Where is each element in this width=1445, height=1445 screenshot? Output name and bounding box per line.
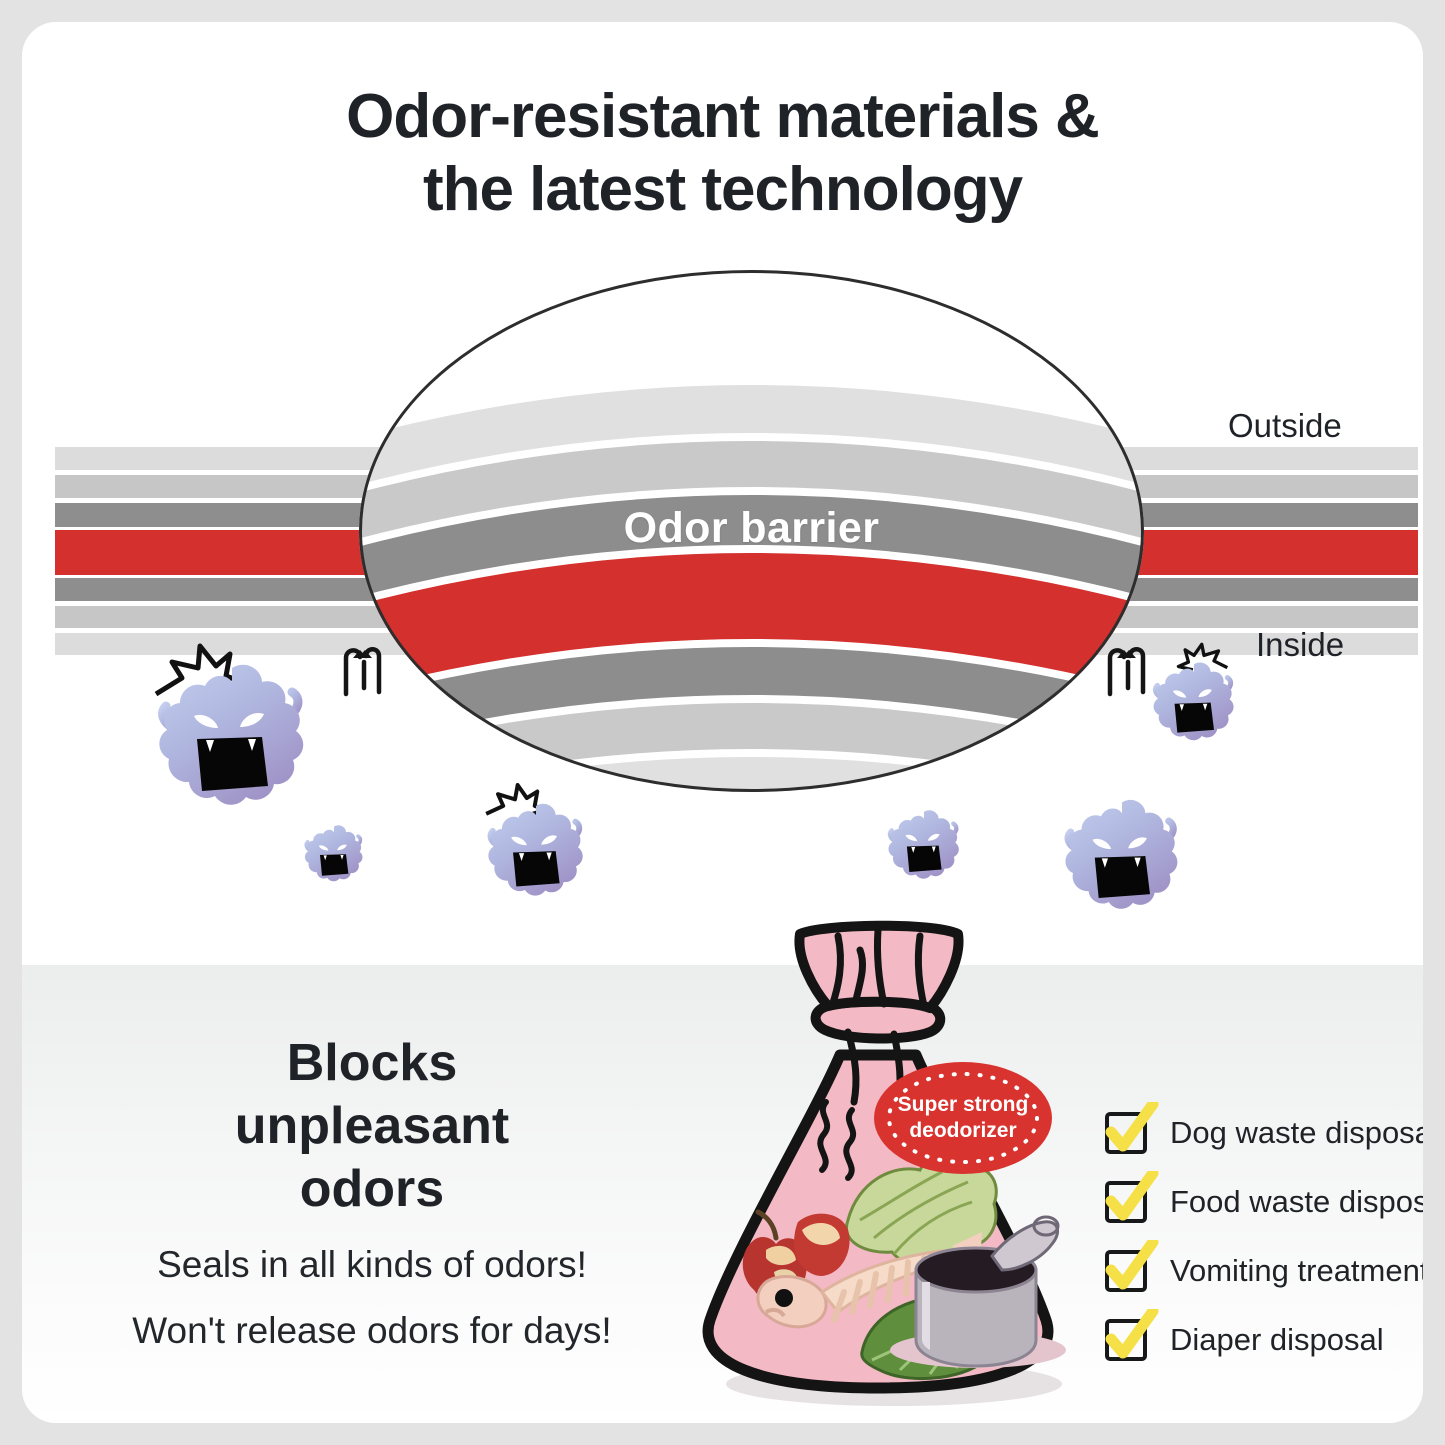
infographic-card: Odor-resistant materials & the latest te… [22,22,1423,1423]
checkbox-vomiting-treatment[interactable] [1105,1250,1147,1292]
check-icon [1103,1309,1159,1367]
checkbox-dog-waste[interactable] [1105,1112,1147,1154]
germ-character-1 [142,634,322,809]
germ-character-3 [477,782,595,900]
germ-character-2 [298,812,370,884]
checklist-item-dog-waste[interactable]: Dog waste disposal [1105,1098,1423,1167]
subtitle-line1: Seals in all kinds of odors! [70,1244,674,1286]
checklist-item-food-waste[interactable]: Food waste disposal [1105,1167,1423,1236]
check-icon [1103,1102,1159,1160]
magnified-layers [359,270,1144,792]
odor-wisp-left [334,636,392,703]
badge-line1: Super strong [898,1092,1029,1118]
blocks-heading-line1: Blocks [82,1032,662,1095]
check-icon [1103,1240,1159,1298]
checklist-label: Food waste disposal [1170,1184,1423,1220]
checklist-label: Diaper disposal [1170,1322,1384,1358]
page-title: Odor-resistant materials & the latest te… [22,80,1423,226]
checklist-label: Dog waste disposal [1170,1115,1423,1151]
checklist-label: Vomiting treatment [1170,1253,1423,1289]
deodorizer-badge: Super strong deodorizer [874,1062,1052,1174]
check-icon [1103,1171,1159,1229]
germ-character-6 [1052,774,1192,914]
inside-label: Inside [1256,626,1344,664]
subtitle-line2: Won't release odors for days! [70,1310,674,1352]
blocks-heading-line3: odors [82,1158,662,1221]
germ-character-4 [880,794,968,882]
magnifier-clip: Odor barrier [359,270,1144,792]
page-title-line2: the latest technology [22,153,1423,226]
checkbox-diaper-disposal[interactable] [1105,1319,1147,1361]
blocks-heading-line2: unpleasant [82,1095,662,1158]
checklist-item-vomiting-treatment[interactable]: Vomiting treatment [1105,1236,1423,1305]
germ-mouth [197,737,268,791]
page-title-line1: Odor-resistant materials & [346,82,1099,151]
germ-character-5 [1144,644,1244,744]
badge-line2: deodorizer [909,1118,1016,1144]
magnifier-lens: Odor barrier [359,270,1144,792]
outside-label: Outside [1228,407,1342,445]
checklist-item-diaper-disposal[interactable]: Diaper disposal [1105,1305,1423,1374]
badge-text: Super strong deodorizer [874,1062,1052,1174]
blocks-heading: Blocks unpleasant odors [82,1032,662,1221]
checkbox-food-waste[interactable] [1105,1181,1147,1223]
feature-checklist: Dog waste disposal Food waste disposal V… [1105,1098,1423,1374]
